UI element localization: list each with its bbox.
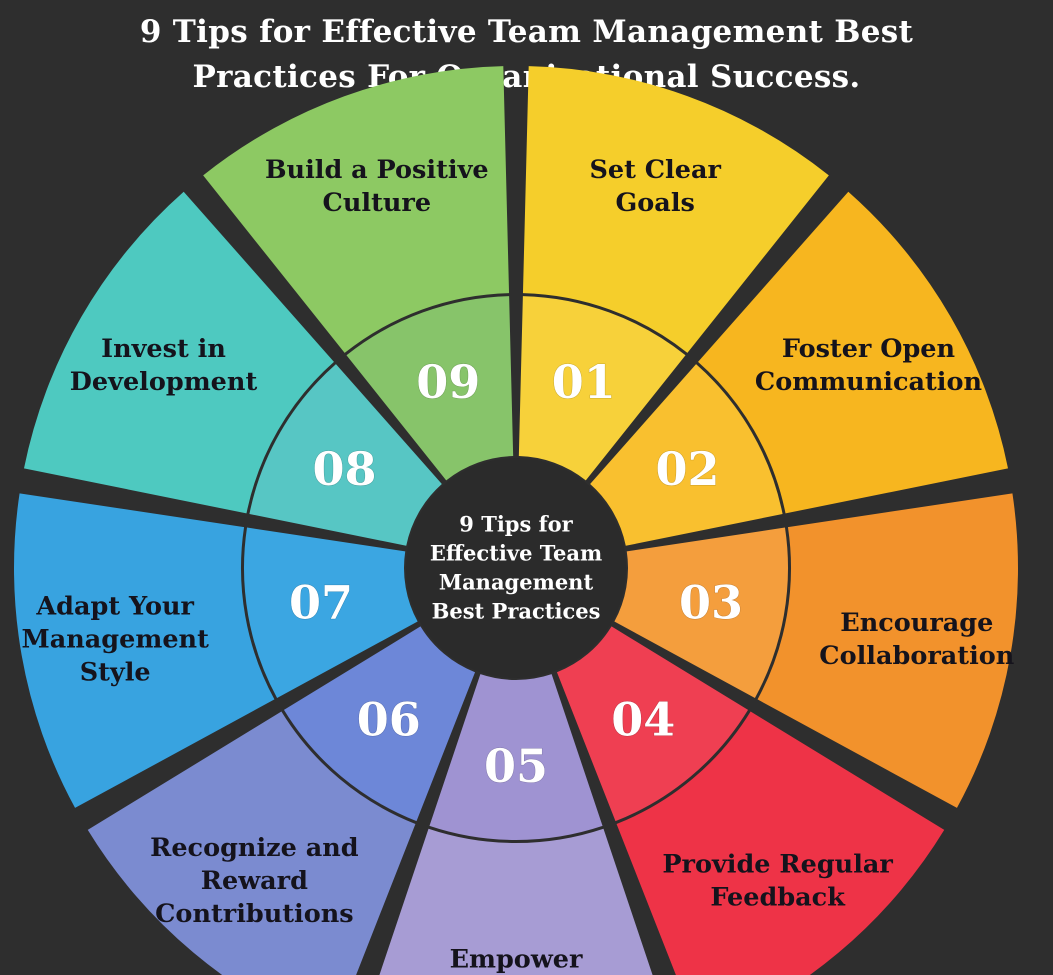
segment-number-09: 09 xyxy=(416,355,480,409)
hub-circle xyxy=(406,458,626,678)
infographic-page: 9 Tips for Effective Team Management Bes… xyxy=(0,0,1053,975)
segment-number-02: 02 xyxy=(655,442,719,496)
segment-number-05: 05 xyxy=(484,739,548,793)
segment-number-03: 03 xyxy=(679,575,743,629)
segment-number-06: 06 xyxy=(357,693,421,747)
segment-number-04: 04 xyxy=(611,693,675,747)
segment-number-01: 01 xyxy=(552,355,616,409)
pie-wheel-chart: 9 Tips forEffective TeamManagementBest P… xyxy=(0,0,1053,975)
segment-number-07: 07 xyxy=(289,575,353,629)
segment-number-08: 08 xyxy=(313,442,377,496)
